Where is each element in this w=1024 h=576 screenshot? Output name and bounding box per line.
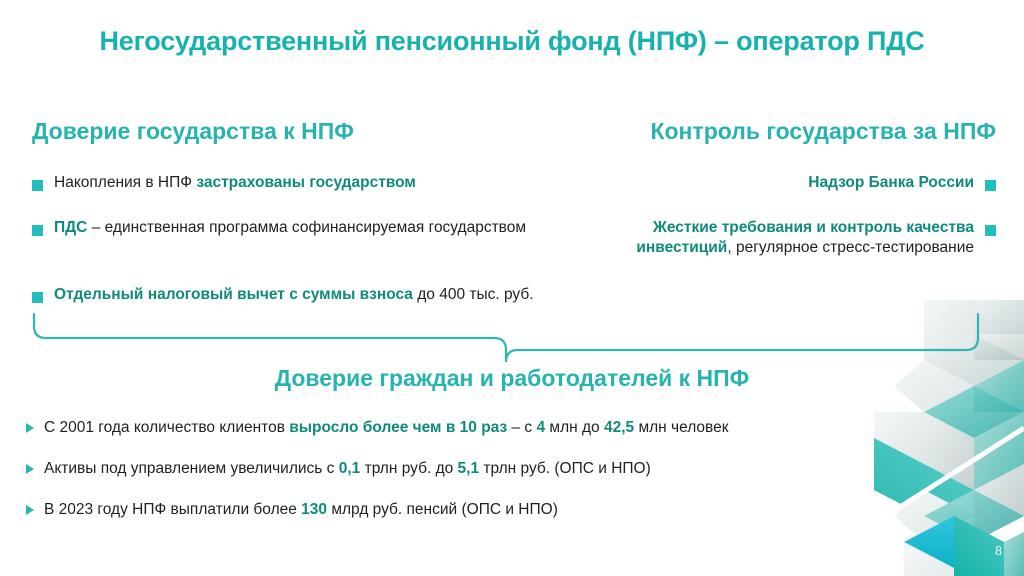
bottom-bullet-2: Активы под управлением увеличились с 0,1… bbox=[26, 459, 651, 479]
curly-brace-decoration bbox=[28, 312, 996, 364]
bottom-bullet-1-text: С 2001 года количество клиентов выросло … bbox=[44, 418, 729, 438]
decorative-polygon-pattern bbox=[864, 300, 1024, 576]
bullet-square-icon bbox=[985, 173, 996, 198]
left-bullet-3-text: Отдельный налоговый вычет с суммы взноса… bbox=[54, 285, 534, 305]
bottom-bullet-3-text: В 2023 году НПФ выплатили более 130 млрд… bbox=[44, 500, 558, 520]
bullet-square-icon bbox=[985, 218, 996, 243]
left-bullet-1: Накопления в НПФ застрахованы государств… bbox=[32, 173, 416, 198]
bullet-square-icon bbox=[32, 285, 43, 310]
right-bullet-2: Жесткие требования и контроль качества и… bbox=[566, 218, 996, 259]
bottom-bullet-3: В 2023 году НПФ выплатили более 130 млрд… bbox=[26, 500, 558, 520]
bullet-square-icon bbox=[32, 218, 43, 243]
right-column-heading: Контроль государства за НПФ bbox=[650, 118, 996, 145]
left-column-heading: Доверие государства к НПФ bbox=[32, 118, 354, 145]
bottom-bullet-1: С 2001 года количество клиентов выросло … bbox=[26, 418, 729, 438]
left-bullet-2: ПДС – единственная программа софинансиру… bbox=[32, 218, 526, 243]
triangle-bullet-icon bbox=[26, 464, 34, 474]
right-bullet-2-text: Жесткие требования и контроль качества и… bbox=[566, 218, 974, 259]
triangle-bullet-icon bbox=[26, 505, 34, 515]
bullet-square-icon bbox=[32, 173, 43, 198]
slide-canvas: Негосударственный пенсионный фонд (НПФ) … bbox=[0, 0, 1024, 576]
right-bullet-1: Надзор Банка России bbox=[808, 173, 996, 198]
page-title: Негосударственный пенсионный фонд (НПФ) … bbox=[0, 26, 1024, 57]
left-bullet-2-text: ПДС – единственная программа софинансиру… bbox=[54, 218, 526, 238]
bottom-section-heading: Доверие граждан и работодателей к НПФ bbox=[0, 365, 1024, 392]
right-bullet-1-text: Надзор Банка России bbox=[808, 173, 974, 193]
triangle-bullet-icon bbox=[26, 423, 34, 433]
left-bullet-1-text: Накопления в НПФ застрахованы государств… bbox=[54, 173, 416, 193]
left-bullet-3: Отдельный налоговый вычет с суммы взноса… bbox=[32, 285, 534, 310]
page-number: 8 bbox=[995, 544, 1002, 560]
bottom-bullet-2-text: Активы под управлением увеличились с 0,1… bbox=[44, 459, 651, 479]
